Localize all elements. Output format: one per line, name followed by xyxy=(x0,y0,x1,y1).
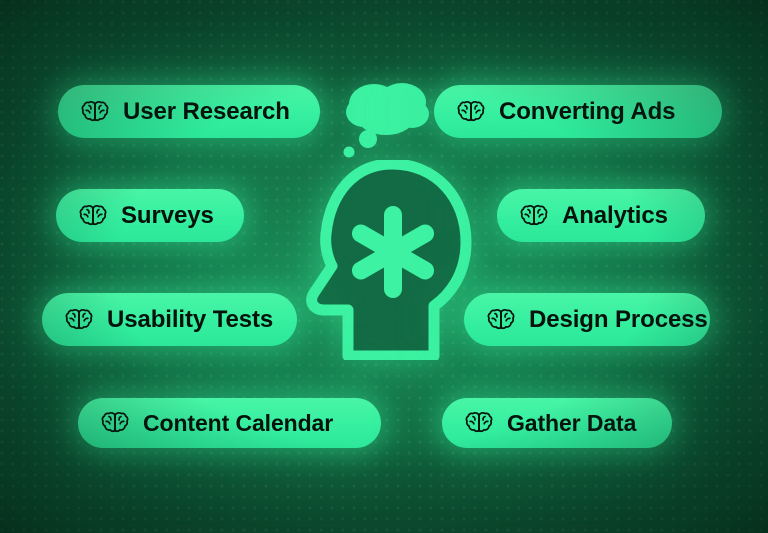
brain-icon xyxy=(100,410,130,436)
thought-bubble-dot-large xyxy=(359,130,377,148)
thought-bubble-dot-small xyxy=(344,147,355,158)
pill-label: Usability Tests xyxy=(107,308,273,332)
pill-content-calendar[interactable]: Content Calendar xyxy=(78,398,381,448)
thought-bubble-icon xyxy=(334,76,442,160)
pill-converting-ads[interactable]: Converting Ads xyxy=(434,85,722,138)
brain-icon xyxy=(78,203,108,229)
pill-gather-data[interactable]: Gather Data xyxy=(442,398,672,448)
pill-label: Surveys xyxy=(121,204,214,228)
pill-label: Gather Data xyxy=(507,412,636,435)
pill-design-process[interactable]: Design Process xyxy=(464,293,710,346)
brain-icon xyxy=(464,410,494,436)
pill-surveys[interactable]: Surveys xyxy=(56,189,244,242)
head-profile-icon xyxy=(288,160,480,360)
concept-graphic-canvas: User Research Converting Ads xyxy=(0,0,768,533)
pill-user-research[interactable]: User Research xyxy=(58,85,320,138)
pill-label: Content Calendar xyxy=(143,412,333,435)
pill-label: Design Process xyxy=(529,308,708,332)
pill-usability-tests[interactable]: Usability Tests xyxy=(42,293,297,346)
brain-icon xyxy=(519,203,549,229)
pill-label: Converting Ads xyxy=(499,100,675,124)
brain-icon xyxy=(64,307,94,333)
pill-analytics[interactable]: Analytics xyxy=(497,189,705,242)
brain-icon xyxy=(486,307,516,333)
pill-label: User Research xyxy=(123,100,290,124)
brain-icon xyxy=(456,99,486,125)
pill-label: Analytics xyxy=(562,204,668,228)
brain-icon xyxy=(80,99,110,125)
